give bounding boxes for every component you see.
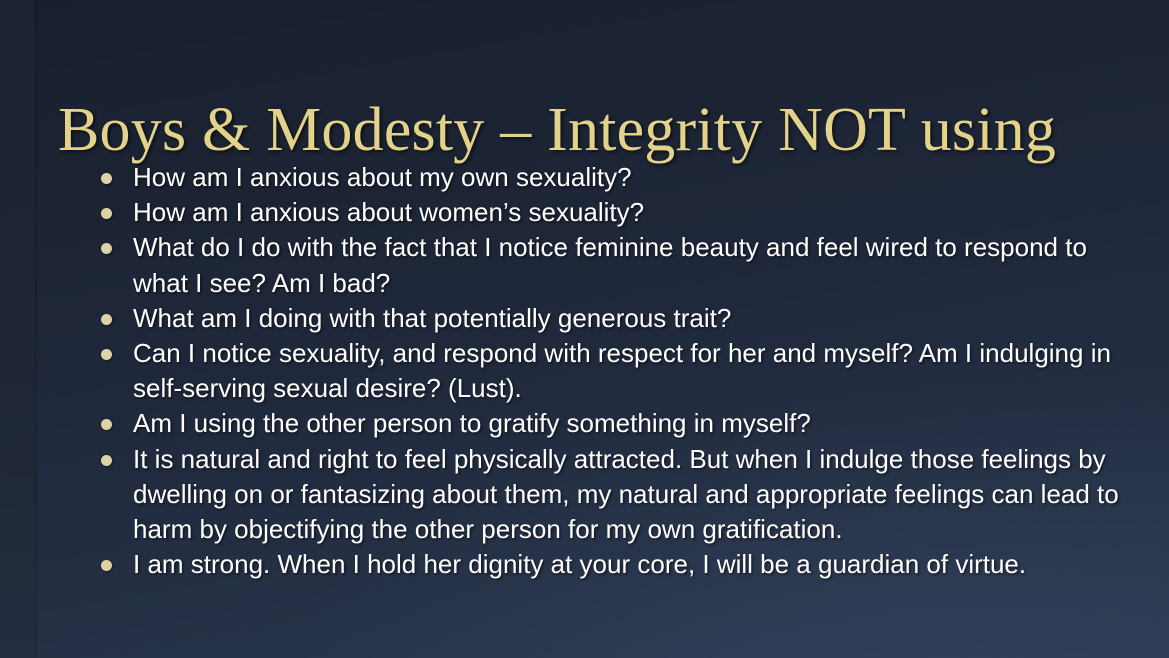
list-item: What am I doing with that potentially ge…	[96, 301, 1126, 336]
list-item-label: What am I doing with that potentially ge…	[133, 301, 1126, 336]
list-item-label: Am I using the other person to gratify s…	[133, 406, 1126, 441]
bullet-dot-icon	[101, 243, 112, 254]
list-item-label: How am I anxious about women’s sexuality…	[133, 195, 1126, 230]
bullet-dot-icon	[101, 349, 112, 360]
list-item: Can I notice sexuality, and respond with…	[96, 336, 1126, 406]
list-item-label: It is natural and right to feel physical…	[133, 442, 1126, 548]
list-item-label: What do I do with the fact that I notice…	[133, 230, 1126, 300]
list-item: I am strong. When I hold her dignity at …	[96, 547, 1126, 582]
list-item: Am I using the other person to gratify s…	[96, 406, 1126, 441]
bullet-dot-icon	[101, 173, 112, 184]
list-item: It is natural and right to feel physical…	[96, 442, 1126, 548]
slide-content: Boys & Modesty – Integrity NOT using How…	[0, 0, 1169, 658]
list-item: How am I anxious about women’s sexuality…	[96, 195, 1126, 230]
list-item: How am I anxious about my own sexuality?	[96, 160, 1126, 195]
bullet-dot-icon	[101, 314, 112, 325]
presentation-slide: Boys & Modesty – Integrity NOT using How…	[0, 0, 1169, 658]
list-item: What do I do with the fact that I notice…	[96, 230, 1126, 300]
bullet-dot-icon	[101, 455, 112, 466]
list-item-label: How am I anxious about my own sexuality?	[133, 160, 1126, 195]
bullet-dot-icon	[101, 208, 112, 219]
page-title: Boys & Modesty – Integrity NOT using	[58, 94, 1138, 166]
bullet-list: How am I anxious about my own sexuality?…	[96, 160, 1126, 582]
list-item-label: I am strong. When I hold her dignity at …	[133, 547, 1126, 582]
list-item-label: Can I notice sexuality, and respond with…	[133, 336, 1126, 406]
bullet-dot-icon	[101, 419, 112, 430]
bullet-dot-icon	[101, 560, 112, 571]
